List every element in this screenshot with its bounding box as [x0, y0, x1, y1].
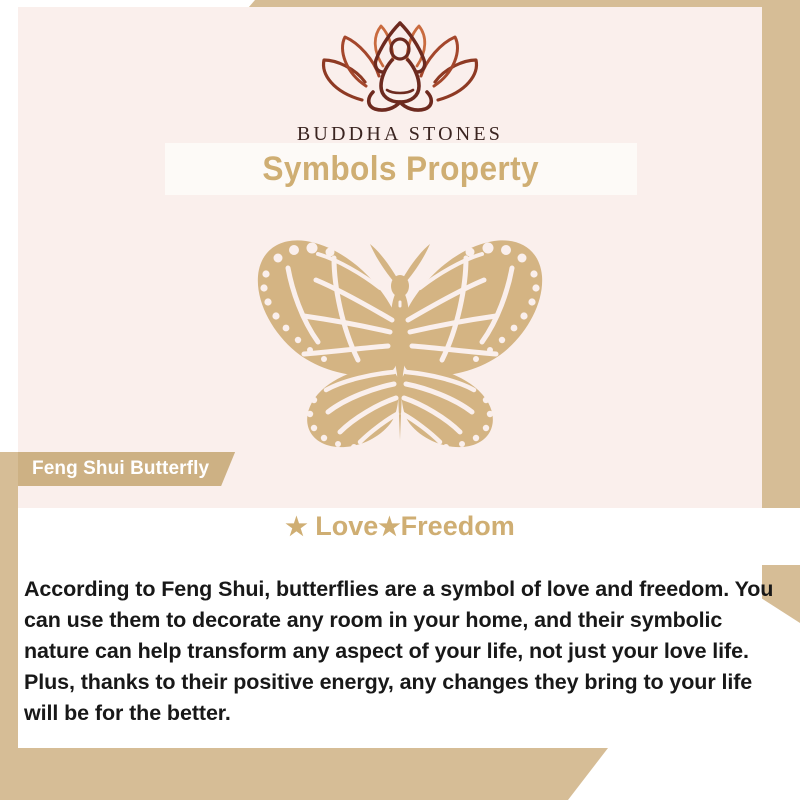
tag-label: Feng Shui Butterfly [32, 458, 209, 480]
promo-graphic: BUDDHA STONES Symbols Property [0, 0, 800, 800]
page-title: Symbols Property [263, 150, 540, 189]
body-paragraph: According to Feng Shui, butterflies are … [24, 574, 780, 729]
subtitle-word-love: Love [308, 511, 379, 541]
page-title-band: Symbols Property [165, 143, 637, 195]
star-left-icon: ★ [285, 513, 307, 541]
butterfly-icon [222, 228, 578, 450]
subtitle-word-freedom: Freedom [401, 511, 515, 541]
content-subtitle: ★ Love★Freedom [0, 511, 800, 542]
gold-left-strip-decor [0, 452, 18, 800]
star-middle-icon: ★ [378, 513, 400, 541]
brand-logo: BUDDHA STONES [0, 16, 800, 146]
feng-shui-butterfly-tag: Feng Shui Butterfly [18, 452, 235, 486]
lotus-meditation-icon [0, 16, 800, 121]
gold-bottom-band-decor [0, 748, 608, 800]
